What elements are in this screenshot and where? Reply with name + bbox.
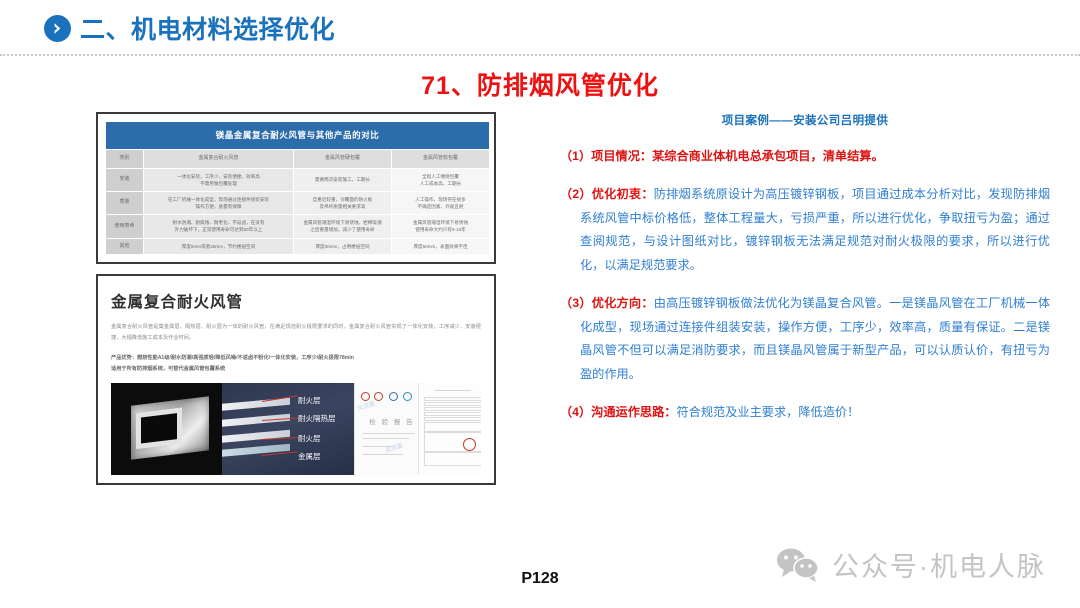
report-watermark: 风测量 xyxy=(356,398,376,413)
wechat-watermark: 公众号·机电人脉 xyxy=(776,545,1046,584)
report-text-line xyxy=(363,433,415,435)
case-item: （2）优化初衷：防排烟系统原设计为高压镀锌钢板，项目通过成本分析对比，发现防排烟… xyxy=(560,183,1050,278)
cert-logo-icon-3 xyxy=(389,392,398,401)
case-item-number: （3） xyxy=(560,296,592,310)
wechat-watermark-label: 公众号·机电人脉 xyxy=(832,545,1046,584)
table-header-row: 类别金属复合耐火风管金属风管硬包覆金属风管软包覆 xyxy=(106,150,490,169)
cert-stamp-icon xyxy=(463,438,476,451)
table-title: 镁晶金属复合耐火风管与其他产品的对比 xyxy=(106,122,490,150)
table-cell: 需要两次安装施工，工期长 xyxy=(294,168,392,191)
case-item-body: 某综合商业体机电总承包项目，清单结算。 xyxy=(652,149,884,163)
table-row: 质量在工厂机械一体化成型，现场通过连接件组装安装操作方便，质量有保障自重近较重，… xyxy=(106,192,490,215)
layer-diagram: 耐火层 耐火隔热层 耐火层 金属层 xyxy=(222,383,354,475)
inspection-report-image: 检 验 报 告 风测量 风测量 xyxy=(354,383,417,475)
case-item: （1）项目情况：某综合商业体机电总承包项目，清单结算。 xyxy=(560,145,1050,169)
table-row: 其他厚度9mm或者25mm，节约楼层空间厚度60mm，占用楼层空间厚度50mm，… xyxy=(106,238,490,255)
cert-row xyxy=(424,417,481,421)
table-cell: 金属风管潮湿环境下易锈蚀使用寿命大约只有5-10年 xyxy=(392,215,490,238)
layer-label-2: 耐火隔热层 xyxy=(298,413,336,424)
product-advantage-line-2: 适用于所有防排烟系统，可替代金属风管包覆系统 xyxy=(111,364,481,374)
comparison-table: 镁晶金属复合耐火风管与其他产品的对比类别金属复合耐火风管金属风管硬包覆金属风管软… xyxy=(105,121,490,255)
header-divider xyxy=(0,54,1080,56)
cert-row xyxy=(424,402,481,406)
cert-heading-line xyxy=(435,390,471,392)
table-row-label: 使用寿命 xyxy=(106,215,144,238)
case-item: （4）沟通运作思路：符合规范及业主要求，降低造价！ xyxy=(560,401,1050,425)
report-watermark: 风测量 xyxy=(384,440,404,455)
table-row-label: 质量 xyxy=(106,192,144,215)
table-cell: 厚度50mm，表面效果不佳 xyxy=(392,238,490,255)
table-cell: 自重近较重，对覆面的防火板及吊杆质量相关要求高 xyxy=(294,192,392,215)
layer-band-3 xyxy=(222,430,290,443)
table-cell: 厚度9mm或者25mm，节约楼层空间 xyxy=(144,238,294,255)
product-description: 金属复合耐火风管是集金属层、隔热层、耐火层为一体的耐火风管，在满足规范耐火极限要… xyxy=(111,322,481,344)
layer-label-1: 耐火层 xyxy=(298,395,321,406)
cert-row xyxy=(424,452,481,466)
case-heading: 项目案例——安装公司吕明提供 xyxy=(560,112,1050,128)
product-card: 金属复合耐火风管 金属复合耐火风管是集金属层、隔热层、耐火层为一体的耐火风管，在… xyxy=(96,274,496,485)
inspection-report-title: 检 验 报 告 xyxy=(369,416,414,426)
section-title: 二、机电材料选择优化 xyxy=(44,10,335,46)
right-column: 项目案例——安装公司吕明提供 （1）项目情况：某综合商业体机电总承包项目，清单结… xyxy=(560,112,1050,439)
cert-logo-icon-4 xyxy=(403,392,412,401)
case-item-number: （1） xyxy=(560,149,591,163)
table-row: 安装一体化安装，工序少，安装便捷，效率高不需另做包覆处理需要两次安装施工，工期长… xyxy=(106,168,490,191)
slide-header: 二、机电材料选择优化 xyxy=(0,0,1080,56)
layer-band-4 xyxy=(222,444,290,457)
table-cell: 厚度60mm，占用楼层空间 xyxy=(294,238,392,255)
left-column: 镁晶金属复合耐火风管与其他产品的对比类别金属复合耐火风管金属风管硬包覆金属风管软… xyxy=(96,112,496,485)
case-item-number: （2） xyxy=(560,187,592,201)
product-heading: 金属复合耐火风管 xyxy=(111,290,481,312)
duct-photo-opening xyxy=(141,413,177,443)
table-cell: 一体化安装，工序少，安装便捷，效率高不需另做包覆处理 xyxy=(144,168,294,191)
case-item-list: （1）项目情况：某综合商业体机电总承包项目，清单结算。（2）优化初衷：防排烟系统… xyxy=(560,145,1050,425)
table-cell: 耐水防潮、耐腐蚀、耐老化、不返卤，在没有外力破坏下，正常使用寿命可达到50年以上 xyxy=(144,215,294,238)
table-cell: 金属风管潮湿环境下易锈蚀，岩棉吸潮之后重量增加，减少了使用寿命 xyxy=(294,215,392,238)
cert-logo-icon-2 xyxy=(374,392,383,401)
case-item: （3）优化方向：由高压镀锌钢板做法优化为镁晶复合风管。一是镁晶风管在工厂机械一体… xyxy=(560,292,1050,387)
cert-row xyxy=(424,407,481,411)
table-cell: 人工操作，现场存在很多不确定因素，外观丑陋 xyxy=(392,192,490,215)
cert-row xyxy=(424,412,481,416)
certificate-image xyxy=(418,383,481,475)
layer-label-3: 耐火层 xyxy=(298,433,321,444)
product-advantage-line-1: 产品优势：燃烧性能A1级/耐水防潮/高强质轻/降低风噪/不返卤不粉化/一体化安装… xyxy=(111,353,481,363)
layer-band-2 xyxy=(222,414,290,427)
cert-row xyxy=(424,422,481,432)
case-item-lead: 项目情况： xyxy=(591,149,652,163)
report-text-line xyxy=(363,438,409,440)
wechat-icon xyxy=(776,547,820,583)
table-row: 使用寿命耐水防潮、耐腐蚀、耐老化、不返卤，在没有外力破坏下，正常使用寿命可达到5… xyxy=(106,215,490,238)
table-column-header: 金属风管硬包覆 xyxy=(294,150,392,169)
table-column-header: 金属风管软包覆 xyxy=(392,150,490,169)
case-item-lead: 优化初衷： xyxy=(592,187,654,201)
case-item-lead: 沟通运作思路： xyxy=(591,405,676,419)
cert-row xyxy=(424,397,481,401)
table-cell: 在工厂机械一体化成型，现场通过连接件组装安装操作方便，质量有保障 xyxy=(144,192,294,215)
case-item-body: 符合规范及业主要求，降低造价！ xyxy=(676,405,859,419)
page-title: 71、防排烟风管优化 xyxy=(0,66,1080,102)
section-title-label: 二、机电材料选择优化 xyxy=(80,10,335,46)
product-gallery: 耐火层 耐火隔热层 耐火层 金属层 检 验 报 告 风测量 风测量 xyxy=(111,383,481,475)
comparison-table-card: 镁晶金属复合耐火风管与其他产品的对比类别金属复合耐火风管金属风管硬包覆金属风管软… xyxy=(96,112,496,264)
table-title-row: 镁晶金属复合耐火风管与其他产品的对比 xyxy=(106,122,490,150)
report-text-line xyxy=(363,454,403,456)
table-row-label: 其他 xyxy=(106,238,144,255)
table-column-header: 类别 xyxy=(106,150,144,169)
chevron-right-circle-icon xyxy=(44,15,71,42)
table-column-header: 金属复合耐火风管 xyxy=(144,150,294,169)
layer-band-1 xyxy=(222,398,290,411)
table-cell: 全程人工缠绕包覆人工成本高，工期长 xyxy=(392,168,490,191)
case-item-lead: 优化方向： xyxy=(592,296,654,310)
case-item-number: （4） xyxy=(560,405,591,419)
layer-label-4: 金属层 xyxy=(298,451,321,462)
duct-photo-body xyxy=(131,396,209,460)
table-row-label: 安装 xyxy=(106,168,144,191)
duct-photo xyxy=(111,383,222,475)
